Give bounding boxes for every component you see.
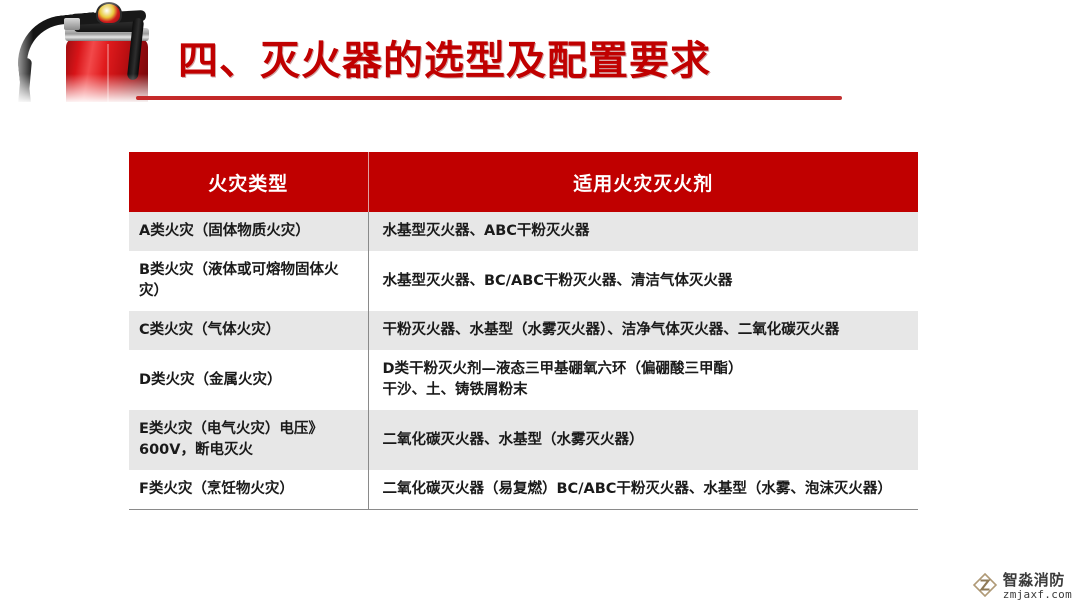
table-row: A类火灾（固体物质火灾） 水基型灭火器、ABC干粉灭火器 — [129, 212, 918, 251]
extinguisher-pressure-gauge — [96, 2, 122, 25]
column-header-extinguishing-agent: 适用火灾灭火剂 — [368, 152, 918, 212]
table-body: A类火灾（固体物质火灾） 水基型灭火器、ABC干粉灭火器 B类火灾（液体或可熔物… — [129, 212, 918, 510]
table-row: B类火灾（液体或可熔物固体火灾） 水基型灭火器、BC/ABC干粉灭火器、清洁气体… — [129, 251, 918, 311]
cell-agent: 二氧化碳灭火器（易复燃）BC/ABC干粉灭火器、水基型（水雾、泡沫灭火器） — [368, 470, 918, 510]
table-row: D类火灾（金属火灾） D类干粉灭火剂—液态三甲基硼氧六环（偏硼酸三甲酯） 干沙、… — [129, 350, 918, 410]
table-header: 火灾类型 适用火灾灭火剂 — [129, 152, 918, 212]
table-row: C类火灾（气体火灾） 干粉灭火器、水基型（水雾灭火器）、洁净气体灭火器、二氧化碳… — [129, 311, 918, 350]
cell-fire-type: D类火灾（金属火灾） — [129, 350, 368, 410]
watermark: 智淼消防 zmjaxf.com — [972, 572, 1072, 602]
extinguisher-clamp — [64, 18, 80, 30]
cell-agent: D类干粉灭火剂—液态三甲基硼氧六环（偏硼酸三甲酯） 干沙、土、铸铁屑粉末 — [368, 350, 918, 410]
table-row: E类火灾（电气火灾）电压》600V，断电灭火 二氧化碳灭火器、水基型（水雾灭火器… — [129, 410, 918, 470]
page-title: 四、灭火器的选型及配置要求 — [178, 41, 711, 81]
slide-canvas: 四、灭火器的选型及配置要求 火灾类型 适用火灾灭火剂 A类火灾（固体物质火灾） … — [0, 0, 1080, 608]
watermark-url: zmjaxf.com — [1003, 589, 1072, 601]
cell-fire-type: B类火灾（液体或可熔物固体火灾） — [129, 251, 368, 311]
cell-fire-type: F类火灾（烹饪物火灾） — [129, 470, 368, 510]
table-header-row: 火灾类型 适用火灾灭火剂 — [129, 152, 918, 212]
table-row: F类火灾（烹饪物火灾） 二氧化碳灭火器（易复燃）BC/ABC干粉灭火器、水基型（… — [129, 470, 918, 510]
fire-class-agent-table: 火灾类型 适用火灾灭火剂 A类火灾（固体物质火灾） 水基型灭火器、ABC干粉灭火… — [129, 152, 918, 510]
cell-fire-type: E类火灾（电气火灾）电压》600V，断电灭火 — [129, 410, 368, 470]
diamond-z-logo-icon — [972, 572, 998, 602]
fire-extinguisher-photo — [8, 0, 188, 102]
cell-fire-type: C类火灾（气体火灾） — [129, 311, 368, 350]
column-header-fire-type: 火灾类型 — [129, 152, 368, 212]
cell-agent: 水基型灭火器、BC/ABC干粉灭火器、清洁气体灭火器 — [368, 251, 918, 311]
title-underline-rule — [136, 96, 842, 100]
cell-agent: 水基型灭火器、ABC干粉灭火器 — [368, 212, 918, 251]
cell-agent: 干粉灭火器、水基型（水雾灭火器）、洁净气体灭火器、二氧化碳灭火器 — [368, 311, 918, 350]
cell-fire-type: A类火灾（固体物质火灾） — [129, 212, 368, 251]
cell-agent: 二氧化碳灭火器、水基型（水雾灭火器） — [368, 410, 918, 470]
watermark-brand: 智淼消防 — [1003, 573, 1072, 589]
